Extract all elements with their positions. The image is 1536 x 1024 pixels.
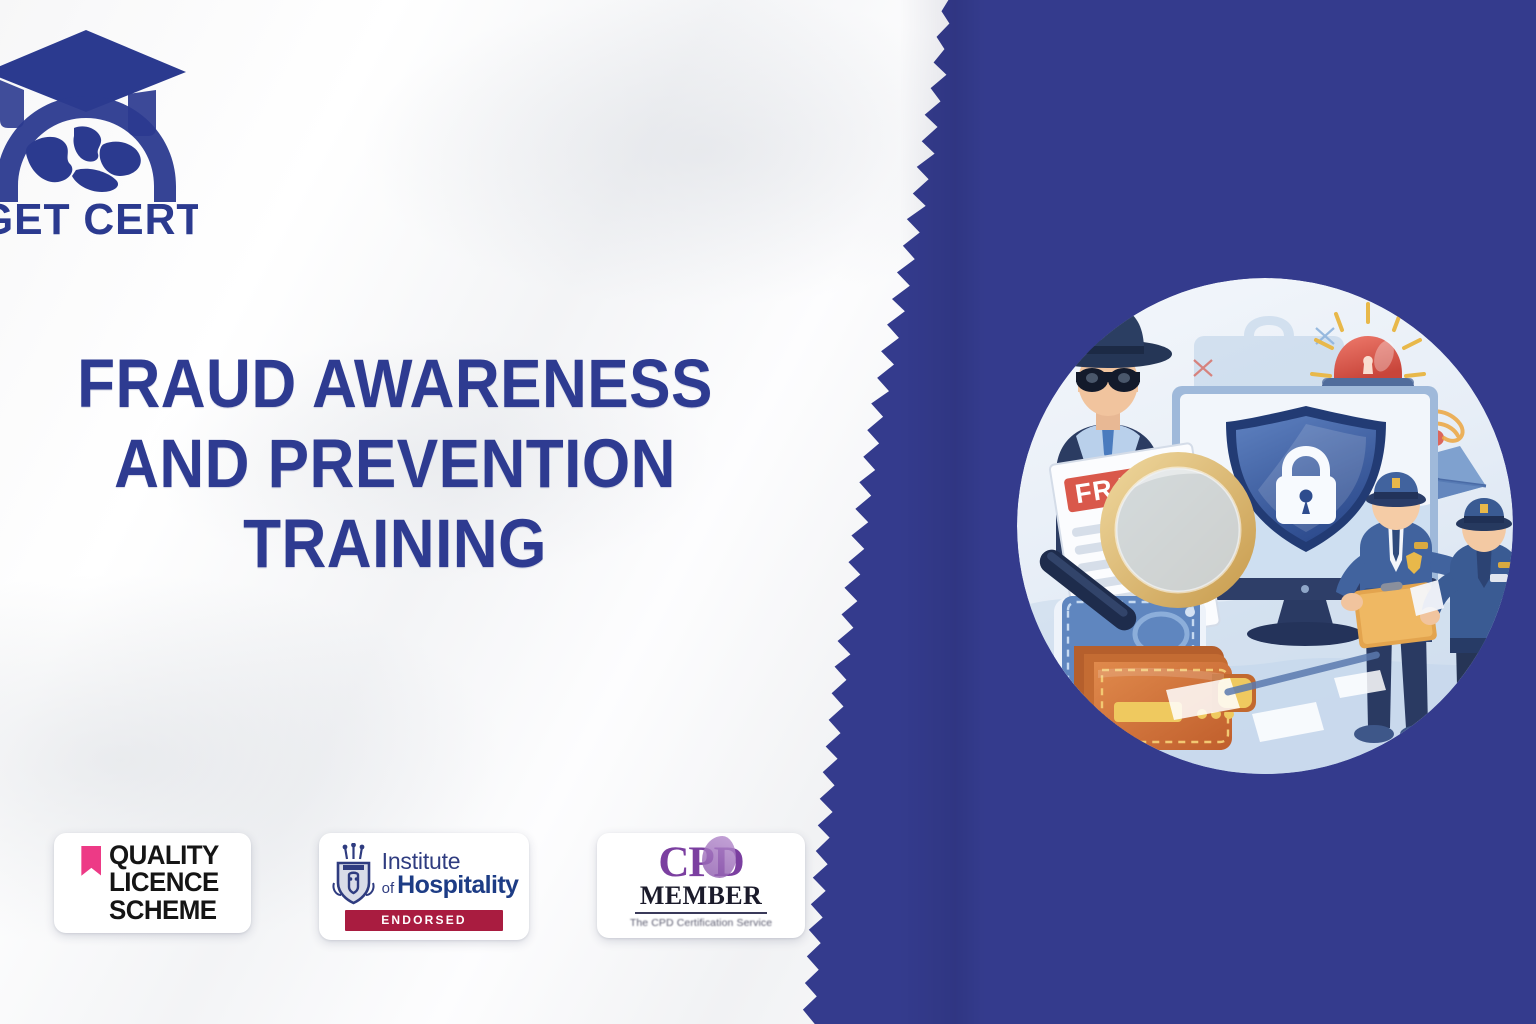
badge-cpd-member[interactable]: CPD MEMBER The CPD Certification Service	[597, 833, 805, 938]
get-certify-logo[interactable]: GET CERTIFY	[0, 24, 198, 239]
ioh-of-text: of	[382, 881, 395, 896]
qls-line-3: SCHEME	[109, 897, 219, 925]
badge-quality-licence-scheme[interactable]: QUALITY LICENCE SCHEME	[54, 833, 251, 933]
ioh-institute-text: Institute	[382, 850, 519, 873]
ioh-hospitality-text: Hospitality	[397, 873, 518, 898]
cpd-member-text: MEMBER	[640, 883, 762, 909]
heraldic-crest-icon	[330, 843, 377, 905]
ioh-endorsed-banner: ENDORSED	[345, 910, 503, 931]
qls-line-2: LICENCE	[109, 869, 219, 897]
fraud-prevention-illustration: FRAUD	[1016, 278, 1514, 774]
page-title-line-3: TRAINING	[67, 504, 724, 584]
qls-line-1: QUALITY	[109, 842, 219, 870]
svg-text:GET CERTIFY: GET CERTIFY	[0, 195, 198, 239]
pink-ribbon-bookmark-icon	[81, 846, 101, 876]
page-title-line-1: FRAUD AWARENESS	[67, 344, 724, 424]
accreditation-badges: QUALITY LICENCE SCHEME	[54, 833, 805, 940]
page-title: FRAUD AWARENESS AND PREVENTION TRAINING	[30, 344, 760, 584]
banner-canvas: GET CERTIFY FRAUD AWARENESS AND PREVENTI…	[0, 0, 1536, 1024]
cpd-divider	[635, 912, 767, 914]
page-title-line-2: AND PREVENTION	[67, 424, 724, 504]
cpd-subtitle-text: The CPD Certification Service	[630, 917, 772, 930]
badge-institute-of-hospitality[interactable]: Institute of Hospitality ENDORSED	[319, 833, 529, 940]
